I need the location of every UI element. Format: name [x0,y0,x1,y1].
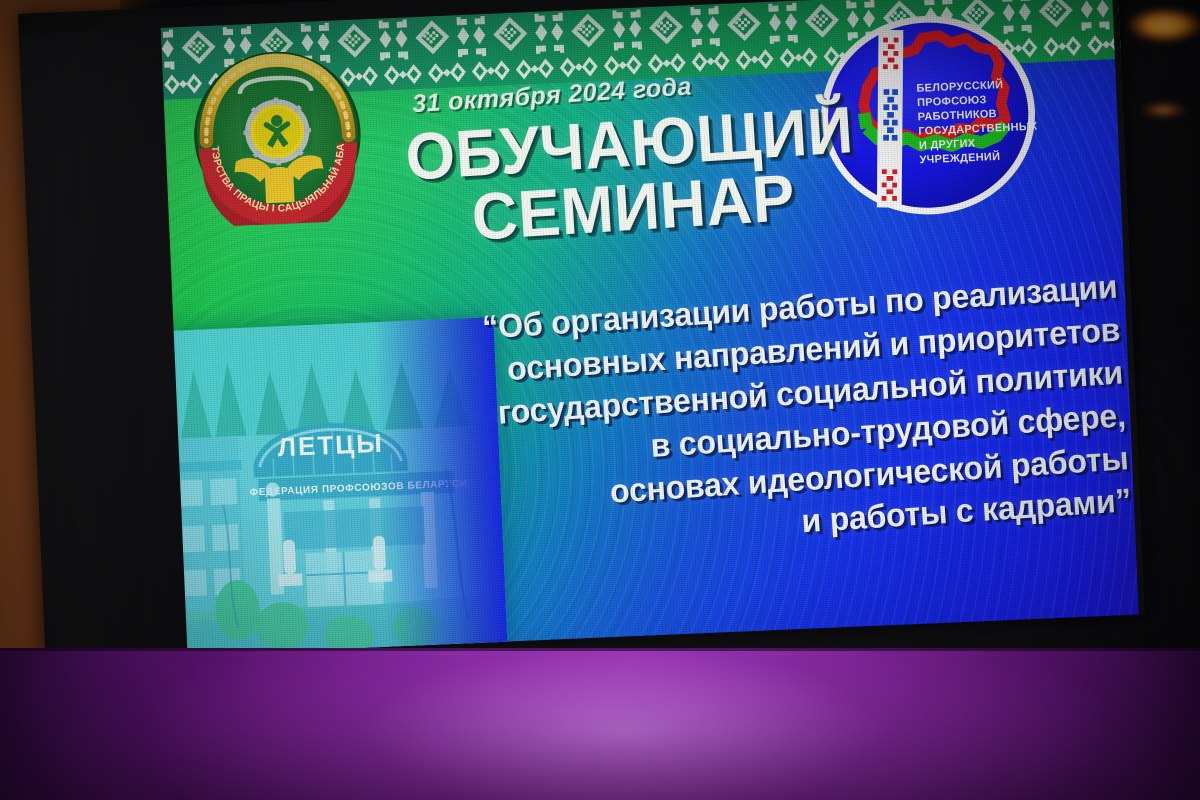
presentation-screen: МІНІСТЭРСТВА ПРАЦЫ І САЦЫЯЛЬНАЙ АБАРОНЫ [18,0,1145,661]
screenshot-stage: МІНІСТЭРСТВА ПРАЦЫ І САЦЫЯЛЬНАЙ АБАРОНЫ [0,0,1200,800]
slide: МІНІСТЭРСТВА ПРАЦЫ І САЦЫЯЛЬНАЙ АБАРОНЫ [159,0,1145,655]
foreground-purple-surface [0,648,1200,800]
purple-surface-texture [0,648,1200,800]
purple-surface-edge [0,648,1200,651]
screen-pixel-grid [159,0,1145,655]
ceiling-light-glow [1128,8,1200,42]
screen-inner: МІНІСТЭРСТВА ПРАЦЫ І САЦЫЯЛЬНАЙ АБАРОНЫ [18,0,1145,661]
screen-bezel-left [18,8,188,661]
ceiling-light-glow-secondary [1142,102,1186,118]
